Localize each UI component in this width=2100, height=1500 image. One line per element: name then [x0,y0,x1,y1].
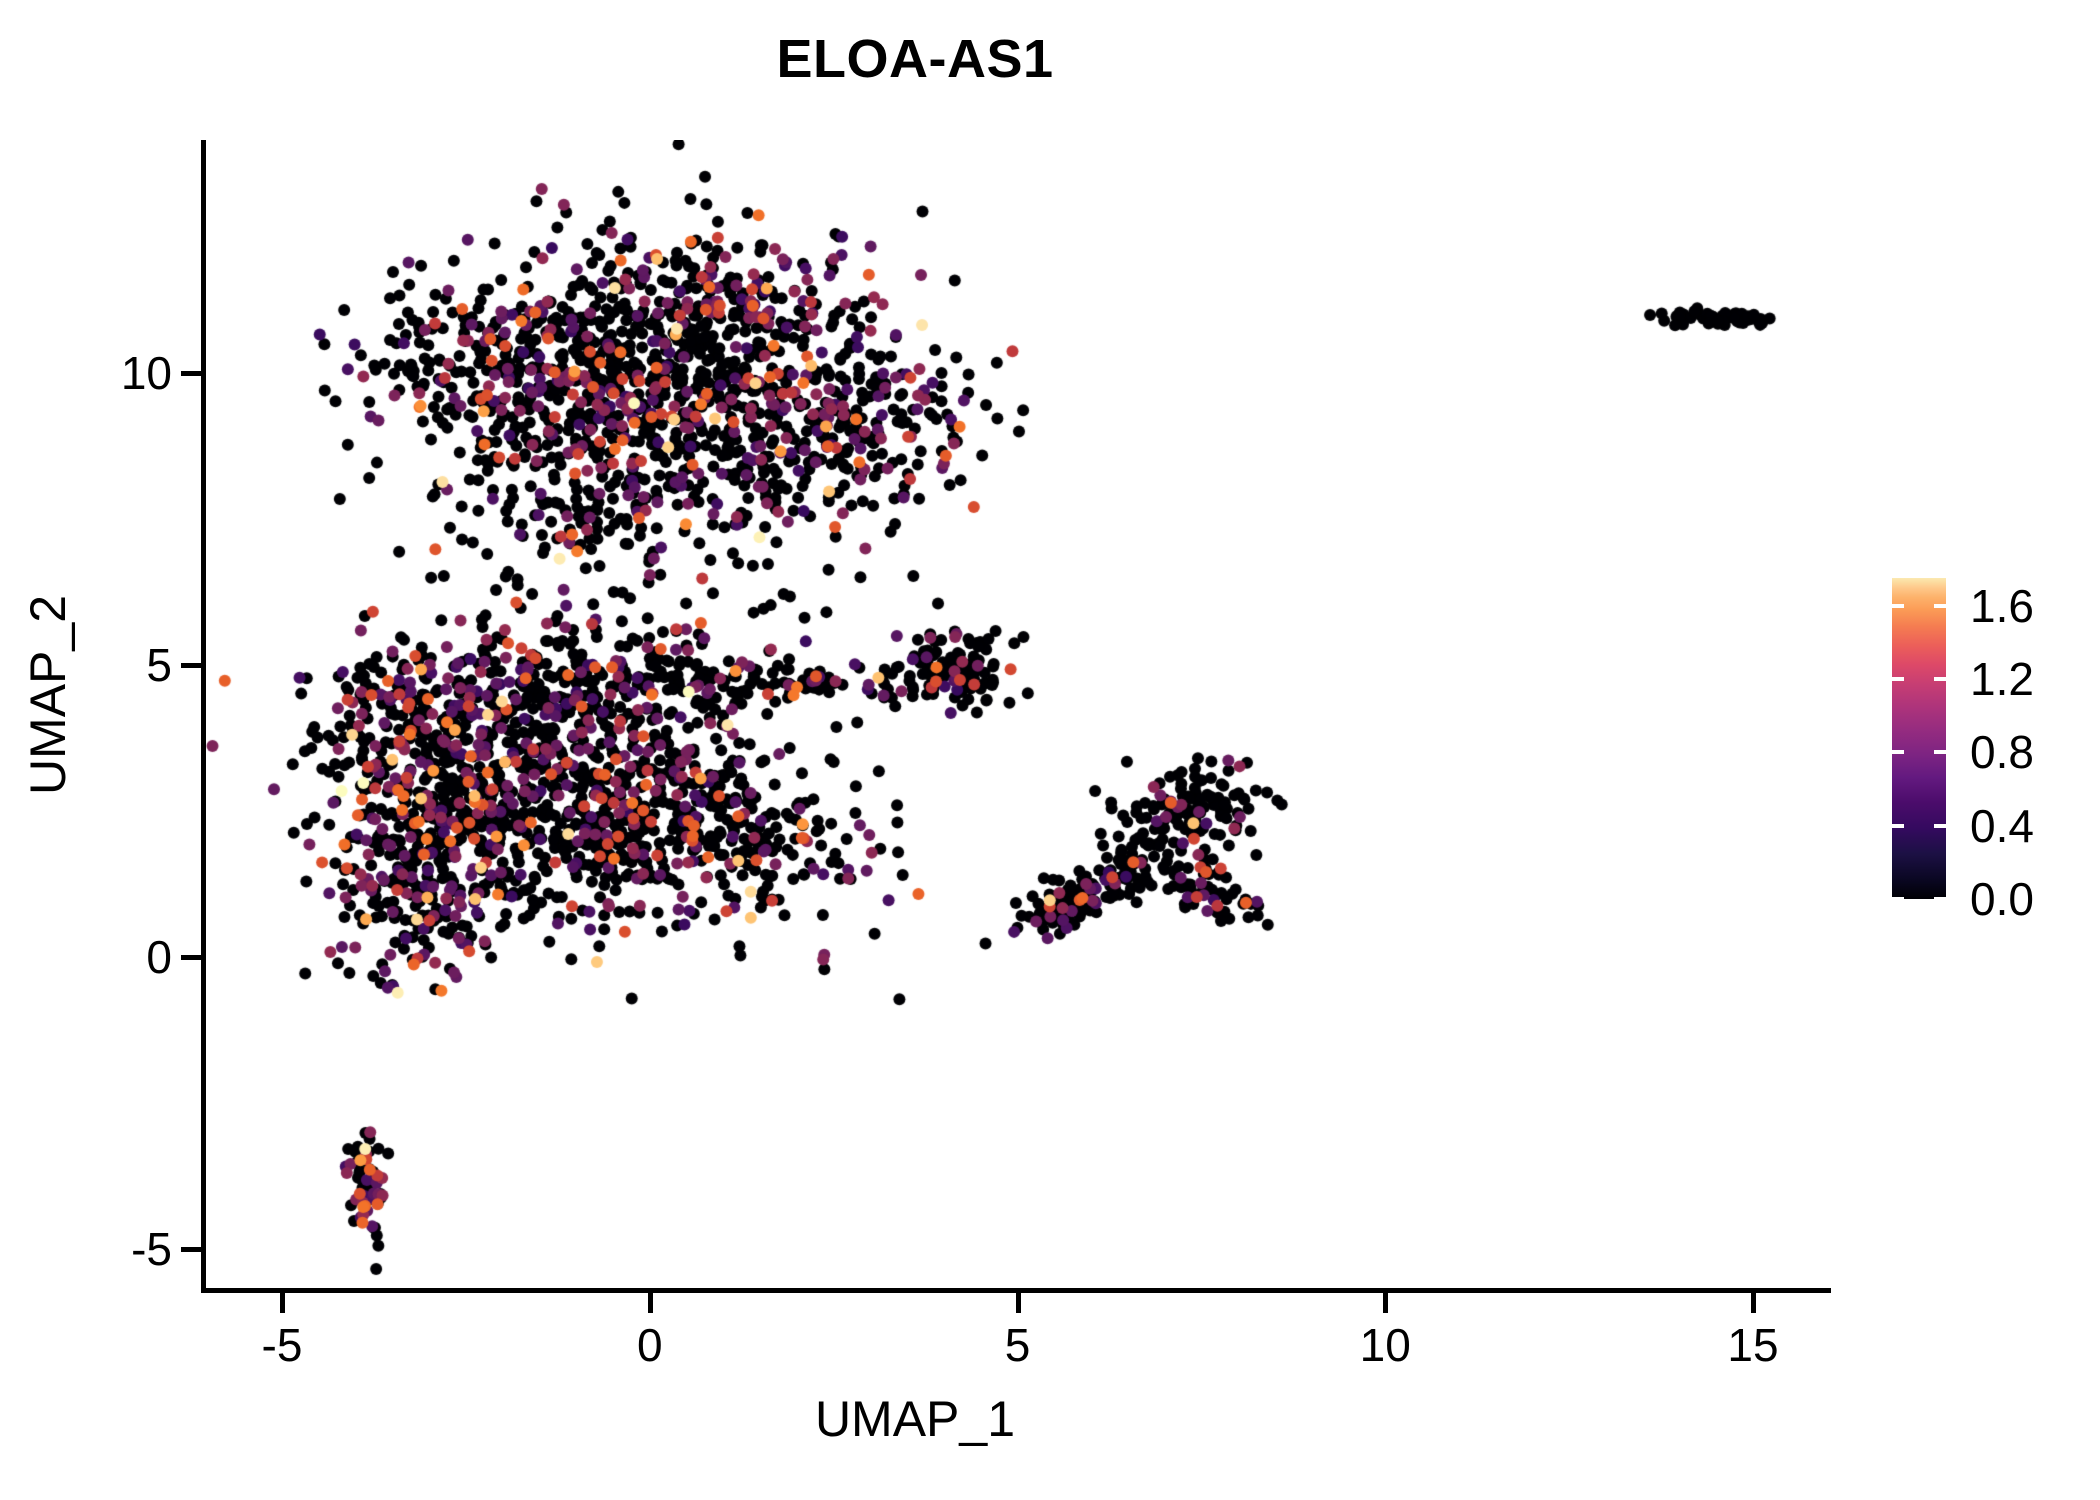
x-tick-label: 0 [637,1318,663,1372]
colorbar-tick-label: 0.4 [1970,799,2034,853]
colorbar-tick-mark [1892,750,1904,754]
colorbar-tick-label: 0.0 [1970,872,2034,926]
x-tick-mark [1751,1293,1756,1313]
y-tick-label: 5 [146,638,172,692]
colorbar-tick-mark [1934,750,1946,754]
colorbar-tick-mark [1892,604,1904,608]
y-tick-mark [181,1247,201,1252]
y-tick-label: -5 [131,1222,172,1276]
x-axis-title: UMAP_1 [0,1390,1830,1448]
y-axis-title: UMAP_2 [19,245,77,1145]
y-tick-mark [181,955,201,960]
colorbar-tick-mark [1934,604,1946,608]
x-tick-label: 15 [1727,1318,1778,1372]
scatter-points-layer [205,140,1830,1290]
y-tick-label: 10 [121,346,172,400]
x-tick-mark [1016,1293,1021,1313]
colorbar-legend: 0.00.40.81.21.6 [1892,578,2092,900]
y-tick-label: 0 [146,930,172,984]
plot-panel [205,140,1830,1290]
x-tick-mark [1383,1293,1388,1313]
colorbar-tick-label: 1.2 [1970,652,2034,706]
x-tick-label: -5 [262,1318,303,1372]
colorbar-tick-mark [1934,677,1946,681]
y-tick-mark [181,371,201,376]
x-tick-label: 5 [1005,1318,1031,1372]
umap-figure: ELOA-AS1 -50510 -5051015 UMAP_1 UMAP_2 0… [0,0,2100,1500]
x-tick-mark [648,1293,653,1313]
x-tick-label: 10 [1360,1318,1411,1372]
colorbar-gradient [1892,578,1946,899]
y-axis-line [201,140,206,1292]
colorbar-tick-mark [1892,824,1904,828]
colorbar-tick-mark [1934,824,1946,828]
colorbar-tick-label: 0.8 [1970,725,2034,779]
y-tick-mark [181,663,201,668]
x-tick-mark [280,1293,285,1313]
colorbar-tick-mark [1892,677,1904,681]
colorbar-tick-mark [1892,897,1904,901]
plot-title: ELOA-AS1 [0,28,1830,90]
colorbar-tick-label: 1.6 [1970,579,2034,633]
colorbar-tick-mark [1934,897,1946,901]
